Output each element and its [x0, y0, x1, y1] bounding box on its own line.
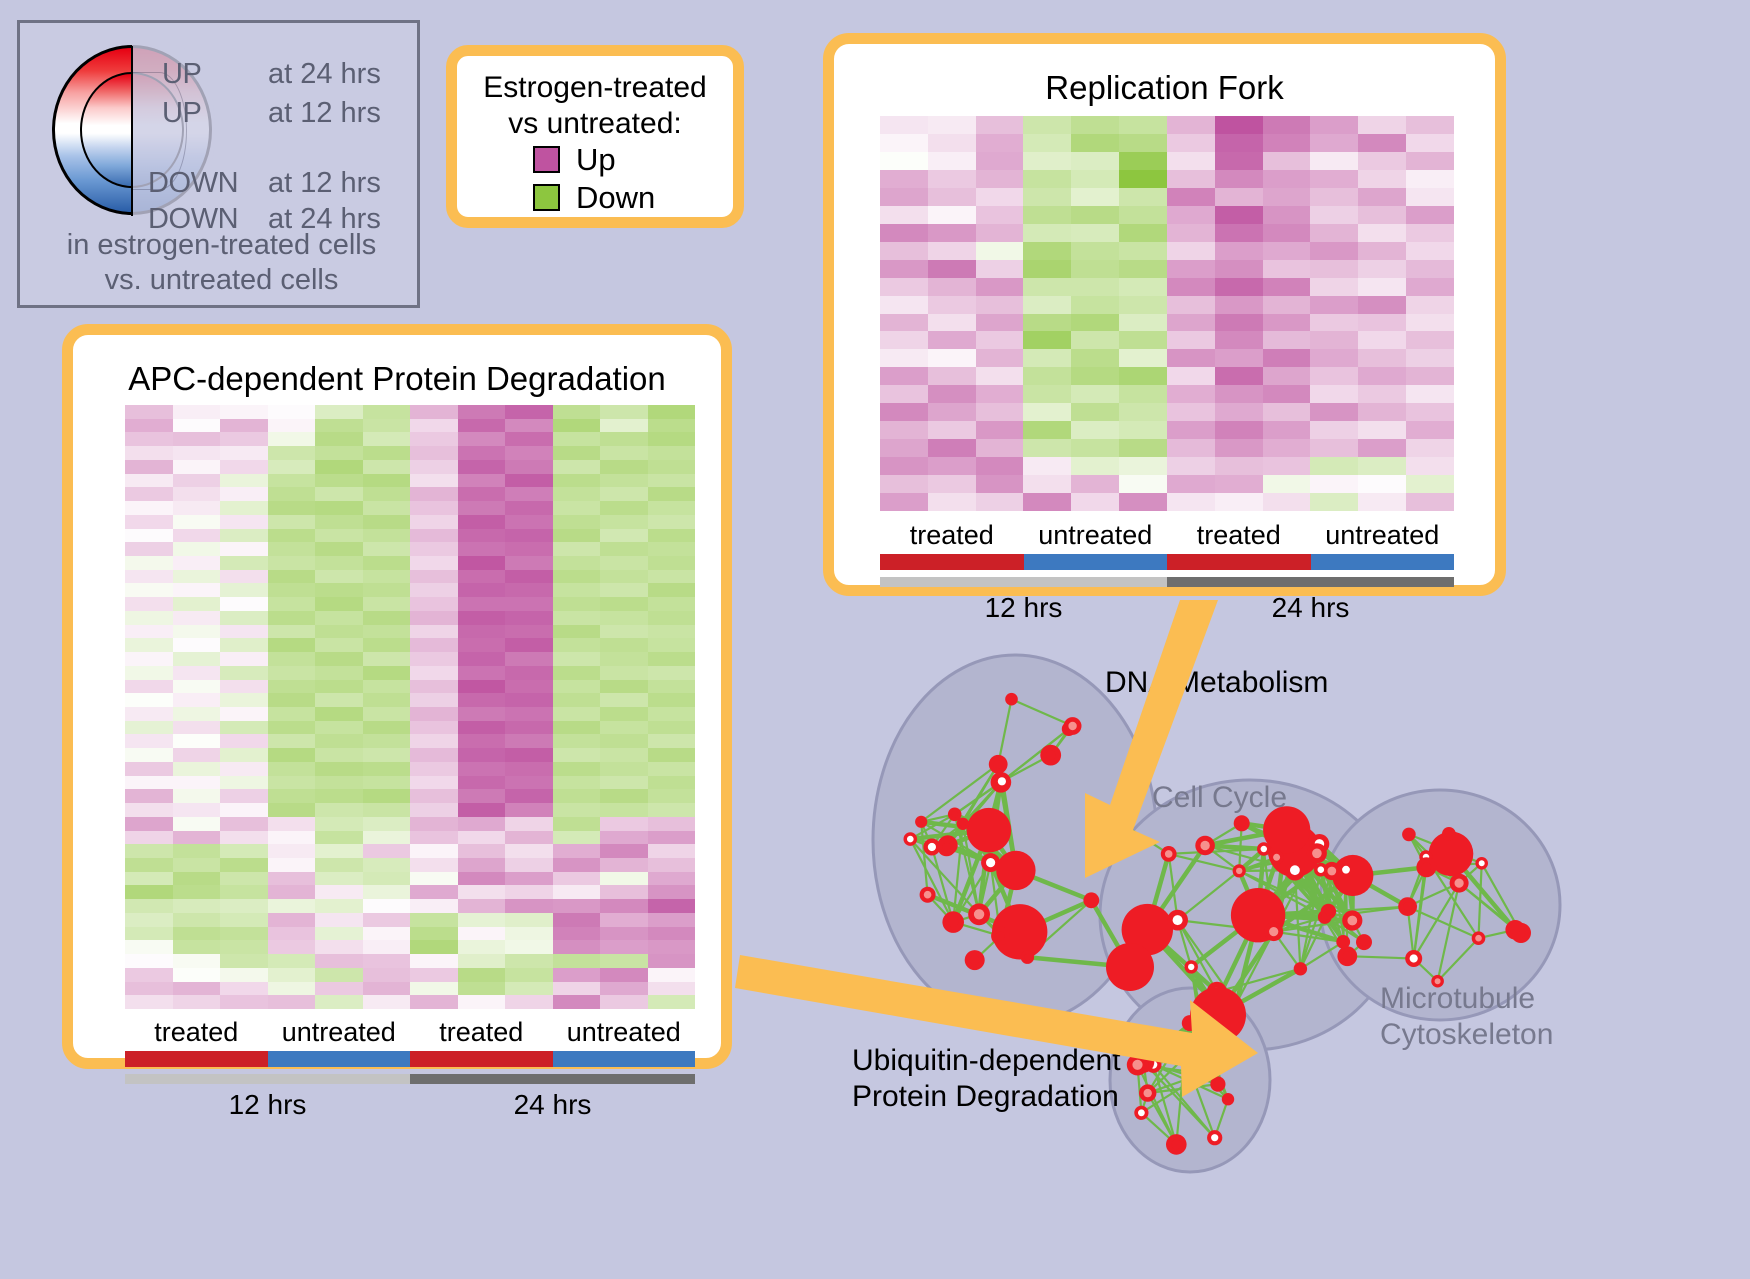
heatmap-cell [1263, 493, 1311, 511]
heatmap-cell [173, 529, 221, 543]
heatmap-cell [268, 995, 316, 1009]
heatmap-cell [410, 721, 458, 735]
heatmap-cell [315, 446, 363, 460]
heatmap-cell [363, 556, 411, 570]
heatmap-cell [363, 597, 411, 611]
heatmap-cell [600, 885, 648, 899]
heatmap-cell [1310, 367, 1358, 385]
heatmap-cell [1263, 421, 1311, 439]
heatmap-cell [1215, 314, 1263, 332]
network-node-core [1406, 831, 1413, 838]
heatmap-cell [1119, 457, 1167, 475]
network-node[interactable] [967, 808, 1012, 853]
wheel-label-down-12: DOWN [148, 167, 238, 200]
heatmap-cell [220, 652, 268, 666]
heatmap-cell [363, 515, 411, 529]
replication-condition-bar [880, 554, 1454, 570]
heatmap-cell [315, 419, 363, 433]
apc-group-label-untreated-12: untreated [268, 1017, 411, 1048]
heatmap-cell [1406, 475, 1454, 493]
heatmap-cell [173, 542, 221, 556]
heatmap-cell [1119, 439, 1167, 457]
heatmap-cell [553, 734, 601, 748]
network-node-core [942, 843, 951, 852]
heatmap-cell [220, 817, 268, 831]
heatmap-cell [600, 419, 648, 433]
heatmap-cell [220, 474, 268, 488]
heatmap-cell [1263, 242, 1311, 260]
heatmap-cell [1406, 367, 1454, 385]
heatmap-cell [458, 954, 506, 968]
heatmap-cell [363, 899, 411, 913]
heatmap-cell [1071, 278, 1119, 296]
group-label-untreated-12: untreated [1024, 520, 1168, 551]
heatmap-cell [600, 597, 648, 611]
heatmap-cell [173, 515, 221, 529]
heatmap-cell [173, 940, 221, 954]
heatmap-cell [505, 666, 553, 680]
heatmap-cell [1071, 296, 1119, 314]
heatmap-cell [976, 457, 1024, 475]
heatmap-cell [976, 224, 1024, 242]
heatmap-cell [173, 748, 221, 762]
heatmap-cell [458, 474, 506, 488]
condition-bar-treated-24 [1167, 554, 1311, 570]
heatmap-cell [648, 529, 696, 543]
heatmap-cell [1119, 349, 1167, 367]
apc-time-label-12hrs: 12 hrs [125, 1089, 410, 1121]
heatmap-cell [125, 858, 173, 872]
heatmap-cell [1358, 134, 1406, 152]
heatmap-cell [458, 817, 506, 831]
heatmap-cell [648, 570, 696, 584]
heatmap-cell [363, 638, 411, 652]
heatmap-cell [1023, 493, 1071, 511]
heatmap-cell [125, 638, 173, 652]
heatmap-cell [458, 446, 506, 460]
heatmap-cell [220, 419, 268, 433]
heatmap-cell [1406, 314, 1454, 332]
heatmap-cell [553, 721, 601, 735]
heatmap-cell [220, 899, 268, 913]
heatmap-cell [1406, 457, 1454, 475]
legend-item-up: Up [533, 144, 616, 175]
heatmap-cell [315, 940, 363, 954]
microtubule-label-line-2: Cytoskeleton [1380, 1017, 1553, 1053]
heatmap-cell [1071, 421, 1119, 439]
heatmap-cell [315, 748, 363, 762]
heatmap-cell [553, 789, 601, 803]
network-node-core [1446, 831, 1453, 838]
heatmap-cell [505, 995, 553, 1009]
heatmap-cell [410, 419, 458, 433]
heatmap-cell [220, 501, 268, 515]
updown-title-line-2: vs untreated: [457, 106, 733, 142]
heatmap-cell [410, 666, 458, 680]
heatmap-cell [268, 954, 316, 968]
heatmap-cell [410, 680, 458, 694]
heatmap-cell [1310, 296, 1358, 314]
heatmap-cell [505, 940, 553, 954]
heatmap-cell [976, 493, 1024, 511]
heatmap-cell [880, 116, 928, 134]
network-node[interactable] [1190, 987, 1246, 1043]
heatmap-cell [125, 693, 173, 707]
network-node-core [1318, 866, 1325, 873]
heatmap-cell [363, 968, 411, 982]
heatmap-cell [410, 789, 458, 803]
heatmap-cell [363, 885, 411, 899]
heatmap-cell [315, 789, 363, 803]
heatmap-cell [125, 597, 173, 611]
heatmap-cell [268, 432, 316, 446]
heatmap-cell [600, 803, 648, 817]
heatmap-cell [173, 789, 221, 803]
heatmap-cell [220, 982, 268, 996]
heatmap-cell [553, 858, 601, 872]
apc-time-bar-12hrs [125, 1074, 410, 1084]
heatmap-cell [1119, 421, 1167, 439]
heatmap-cell [268, 693, 316, 707]
heatmap-cell [1119, 493, 1167, 511]
heatmap-cell [315, 666, 363, 680]
heatmap-cell [315, 432, 363, 446]
heatmap-cell [1406, 188, 1454, 206]
heatmap-cell [125, 844, 173, 858]
heatmap-cell [1358, 188, 1406, 206]
heatmap-cell [600, 652, 648, 666]
heatmap-cell [1167, 206, 1215, 224]
network-node-core [1269, 927, 1278, 936]
apc-condition-bar-untreated-12 [268, 1051, 411, 1067]
heatmap-cell [1071, 385, 1119, 403]
heatmap-cell [125, 652, 173, 666]
heatmap-cell [363, 831, 411, 845]
network-node-core [924, 891, 932, 899]
heatmap-cell [1215, 439, 1263, 457]
legend-item-down: Down [533, 182, 655, 213]
heatmap-cell [458, 899, 506, 913]
network-node-core [994, 760, 1003, 769]
heatmap-cell [315, 872, 363, 886]
heatmap-cell [125, 419, 173, 433]
heatmap-cell [363, 460, 411, 474]
heatmap-cell [976, 367, 1024, 385]
heatmap-cell [600, 405, 648, 419]
heatmap-cell [315, 583, 363, 597]
heatmap-cell [600, 474, 648, 488]
heatmap-cell [173, 968, 221, 982]
heatmap-cell [1071, 152, 1119, 170]
heatmap-cell [268, 913, 316, 927]
heatmap-cell [363, 542, 411, 556]
heatmap-cell [1023, 116, 1071, 134]
heatmap-cell [976, 475, 1024, 493]
heatmap-cell [976, 152, 1024, 170]
heatmap-cell [600, 872, 648, 886]
heatmap-cell [125, 529, 173, 543]
heatmap-cell [976, 116, 1024, 134]
heatmap-cell [505, 597, 553, 611]
heatmap-cell [1263, 314, 1311, 332]
heatmap-cell [268, 556, 316, 570]
heatmap-cell [505, 460, 553, 474]
heatmap-cell [410, 474, 458, 488]
apc-degradation-heatmap [125, 405, 695, 1009]
heatmap-cell [220, 405, 268, 419]
heatmap-cell [363, 734, 411, 748]
heatmap-cell [648, 789, 696, 803]
heatmap-cell [1215, 260, 1263, 278]
heatmap-cell [1310, 331, 1358, 349]
heatmap-cell [600, 721, 648, 735]
heatmap-cell [173, 776, 221, 790]
wheel-value-up-24: at 24 hrs [268, 58, 381, 91]
down-label: Down [576, 182, 655, 213]
heatmap-cell [928, 134, 976, 152]
heatmap-cell [600, 940, 648, 954]
heatmap-cell [458, 872, 506, 886]
heatmap-cell [220, 721, 268, 735]
pathway-network-graph [800, 615, 1750, 1279]
heatmap-cell [1406, 278, 1454, 296]
heatmap-cell [648, 542, 696, 556]
heatmap-cell [363, 487, 411, 501]
heatmap-cell [410, 556, 458, 570]
heatmap-cell [410, 707, 458, 721]
heatmap-cell [1023, 296, 1071, 314]
heatmap-cell [1071, 134, 1119, 152]
heatmap-cell [458, 556, 506, 570]
heatmap-cell [458, 419, 506, 433]
heatmap-cell [268, 789, 316, 803]
apc-time-bar [125, 1074, 695, 1084]
color-wheel-legend: UP at 24 hrs UP at 12 hrs DOWN at 12 hrs… [17, 20, 420, 308]
heatmap-cell [505, 529, 553, 543]
heatmap-cell [125, 734, 173, 748]
heatmap-cell [553, 885, 601, 899]
apc-time-label-24hrs: 24 hrs [410, 1089, 695, 1121]
heatmap-cell [648, 432, 696, 446]
heatmap-cell [1119, 134, 1167, 152]
heatmap-cell [363, 405, 411, 419]
heatmap-cell [976, 134, 1024, 152]
cluster-label-ubiquitin: Ubiquitin-dependent Protein Degradation [852, 1043, 1121, 1115]
heatmap-cell [268, 542, 316, 556]
heatmap-cell [125, 611, 173, 625]
heatmap-cell [1167, 188, 1215, 206]
heatmap-cell [363, 446, 411, 460]
figure-canvas: UP at 24 hrs UP at 12 hrs DOWN at 12 hrs… [0, 0, 1750, 1279]
heatmap-cell [928, 152, 976, 170]
heatmap-cell [1167, 242, 1215, 260]
heatmap-cell [125, 474, 173, 488]
heatmap-cell [1263, 367, 1311, 385]
heatmap-cell [410, 899, 458, 913]
heatmap-cell [1215, 331, 1263, 349]
network-node-core [1422, 863, 1432, 873]
heatmap-cell [505, 611, 553, 625]
heatmap-cell [553, 680, 601, 694]
heatmap-cell [648, 597, 696, 611]
heatmap-cell [648, 995, 696, 1009]
wheel-label-up-12: UP [162, 97, 202, 130]
heatmap-cell [220, 734, 268, 748]
heatmap-cell [268, 899, 316, 913]
heatmap-cell [505, 432, 553, 446]
heatmap-cell [268, 762, 316, 776]
heatmap-cell [976, 439, 1024, 457]
heatmap-cell [1406, 349, 1454, 367]
replication-group-labels: treated untreated treated untreated [880, 520, 1454, 551]
heatmap-cell [553, 542, 601, 556]
heatmap-cell [1167, 349, 1215, 367]
heatmap-cell [648, 844, 696, 858]
heatmap-cell [505, 638, 553, 652]
wheel-value-down-12: at 12 hrs [268, 167, 381, 200]
apc-group-labels: treated untreated treated untreated [125, 1017, 695, 1048]
heatmap-cell [1023, 278, 1071, 296]
heatmap-cell [1167, 260, 1215, 278]
heatmap-cell [315, 556, 363, 570]
apc-degradation-panel: APC-dependent Protein Degradation treate… [62, 324, 732, 1069]
heatmap-cell [553, 652, 601, 666]
heatmap-cell [315, 968, 363, 982]
updown-legend-title: Estrogen-treated vs untreated: [457, 70, 733, 142]
heatmap-cell [268, 405, 316, 419]
group-label-treated-24: treated [1167, 520, 1311, 551]
apc-group-label-untreated-24: untreated [553, 1017, 696, 1048]
heatmap-cell [363, 748, 411, 762]
heatmap-cell [315, 460, 363, 474]
time-bar-12hrs [880, 577, 1167, 587]
group-label-treated-12: treated [880, 520, 1024, 551]
heatmap-cell [928, 242, 976, 260]
apc-group-label-treated-24: treated [410, 1017, 553, 1048]
heatmap-cell [600, 432, 648, 446]
heatmap-cell [458, 776, 506, 790]
heatmap-cell [410, 625, 458, 639]
ubiquitin-label-line-2: Protein Degradation [852, 1079, 1121, 1115]
heatmap-cell [315, 858, 363, 872]
heatmap-cell [268, 666, 316, 680]
heatmap-cell [1358, 170, 1406, 188]
up-label: Up [576, 144, 616, 175]
heatmap-cell [173, 446, 221, 460]
heatmap-cell [363, 611, 411, 625]
apc-condition-bar-treated-12 [125, 1051, 268, 1067]
cluster-label-cell-cycle: Cell Cycle [1152, 781, 1287, 815]
heatmap-cell [315, 693, 363, 707]
heatmap-cell [505, 858, 553, 872]
heatmap-cell [1263, 331, 1311, 349]
heatmap-cell [648, 583, 696, 597]
heatmap-cell [363, 844, 411, 858]
heatmap-cell [220, 913, 268, 927]
heatmap-cell [600, 817, 648, 831]
heatmap-cell [600, 899, 648, 913]
heatmap-cell [648, 899, 696, 913]
heatmap-cell [1119, 260, 1167, 278]
heatmap-cell [505, 817, 553, 831]
heatmap-cell [648, 666, 696, 680]
heatmap-cell [1071, 206, 1119, 224]
heatmap-cell [1310, 260, 1358, 278]
heatmap-cell [880, 206, 928, 224]
network-node-core [1225, 1096, 1231, 1102]
heatmap-cell [268, 625, 316, 639]
heatmap-cell [268, 515, 316, 529]
heatmap-cell [220, 638, 268, 652]
replication-fork-panel: Replication Fork treated untreated treat… [823, 33, 1506, 596]
network-node[interactable] [1106, 943, 1154, 991]
heatmap-cell [648, 734, 696, 748]
heatmap-cell [1406, 439, 1454, 457]
heatmap-cell [410, 542, 458, 556]
heatmap-cell [220, 762, 268, 776]
heatmap-cell [1310, 170, 1358, 188]
heatmap-cell [410, 748, 458, 762]
heatmap-cell [1406, 385, 1454, 403]
wheel-label-up-24: UP [162, 58, 202, 91]
heatmap-cell [363, 501, 411, 515]
heatmap-cell [1358, 475, 1406, 493]
heatmap-cell [458, 625, 506, 639]
network-node-core [1360, 938, 1368, 946]
heatmap-cell [553, 570, 601, 584]
heatmap-cell [505, 707, 553, 721]
heatmap-cell [410, 460, 458, 474]
heatmap-cell [648, 913, 696, 927]
heatmap-cell [173, 680, 221, 694]
heatmap-cell [220, 680, 268, 694]
heatmap-cell [268, 597, 316, 611]
heatmap-cell [363, 803, 411, 817]
heatmap-cell [410, 844, 458, 858]
heatmap-cell [1119, 296, 1167, 314]
heatmap-cell [1406, 152, 1454, 170]
heatmap-cell [315, 899, 363, 913]
heatmap-cell [1167, 116, 1215, 134]
updown-legend-panel: Estrogen-treated vs untreated: Up Down [446, 45, 744, 228]
heatmap-cell [1071, 367, 1119, 385]
heatmap-cell [125, 885, 173, 899]
heatmap-cell [1023, 457, 1071, 475]
network-node-core [1088, 897, 1096, 905]
heatmap-cell [505, 419, 553, 433]
heatmap-cell [1406, 331, 1454, 349]
heatmap-cell [505, 446, 553, 460]
heatmap-cell [1215, 403, 1263, 421]
heatmap-cell [1023, 260, 1071, 278]
heatmap-cell [880, 314, 928, 332]
heatmap-cell [553, 831, 601, 845]
heatmap-cell [1167, 439, 1215, 457]
heatmap-cell [648, 556, 696, 570]
heatmap-cell [1167, 457, 1215, 475]
heatmap-cell [928, 367, 976, 385]
network-node-core [1403, 902, 1412, 911]
heatmap-cell [928, 206, 976, 224]
heatmap-cell [1023, 224, 1071, 242]
network-node[interactable] [996, 851, 1035, 890]
heatmap-cell [1263, 224, 1311, 242]
heatmap-cell [928, 349, 976, 367]
heatmap-cell [458, 707, 506, 721]
heatmap-cell [1215, 385, 1263, 403]
heatmap-cell [410, 831, 458, 845]
heatmap-cell [880, 493, 928, 511]
